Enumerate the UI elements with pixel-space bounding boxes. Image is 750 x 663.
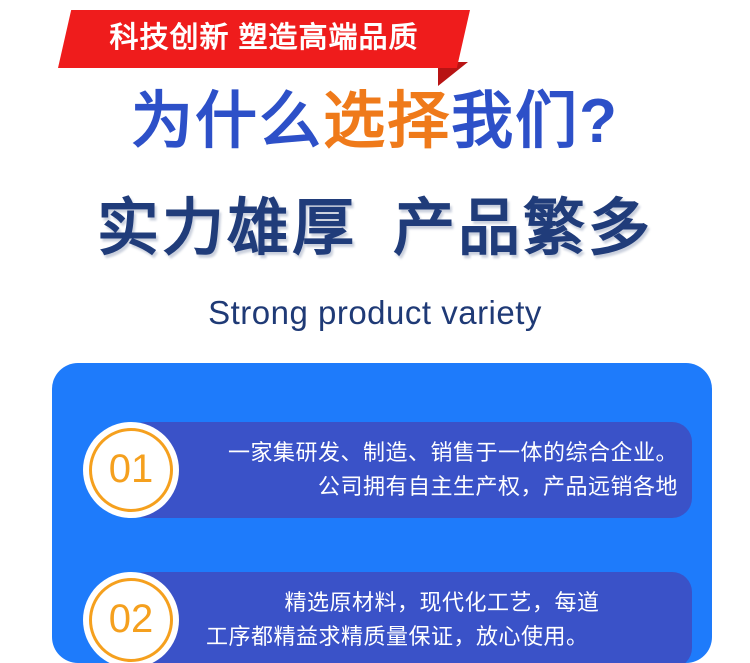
ribbon-banner: 科技创新 塑造高端品质 (0, 0, 750, 95)
headline-secondary-left: 实力雄厚 (97, 194, 357, 263)
headline-secondary-right: 产品繁多 (393, 194, 653, 263)
headline-secondary: 实力雄厚产品繁多 (0, 186, 750, 272)
feature-item-01-line1: 一家集研发、制造、销售于一体的综合企业。 (228, 436, 678, 470)
feature-item-01-number: 01 (109, 449, 154, 489)
feature-item-02-badge: 02 (83, 572, 179, 663)
feature-item-01-badge: 01 (83, 422, 179, 518)
feature-item-02-pill: 精选原材料，现代化工艺，每道 工序都精益求精质量保证，放心使用。 (126, 572, 692, 663)
feature-item-02-number: 02 (109, 599, 154, 639)
feature-item-02-line2: 工序都精益求精质量保证，放心使用。 (206, 620, 589, 654)
feature-item-02: 精选原材料，现代化工艺，每道 工序都精益求精质量保证，放心使用。 02 (52, 561, 712, 663)
feature-item-02-line1: 精选原材料，现代化工艺，每道 (284, 586, 599, 620)
headline-main-part1: 为什么 (131, 87, 323, 156)
subtitle-english: Strong product variety (0, 292, 750, 334)
feature-item-01: 一家集研发、制造、销售于一体的综合企业。 公司拥有自主生产权，产品远销各地 01 (52, 411, 712, 529)
promo-page: 科技创新 塑造高端品质 为什么选择我们? 实力雄厚产品繁多 Strong pro… (0, 0, 750, 654)
ribbon-text: 科技创新 塑造高端品质 (109, 24, 418, 53)
feature-card: 一家集研发、制造、销售于一体的综合企业。 公司拥有自主生产权，产品远销各地 01… (52, 363, 712, 663)
feature-item-01-pill: 一家集研发、制造、销售于一体的综合企业。 公司拥有自主生产权，产品远销各地 (126, 422, 692, 518)
badge-ring-icon: 02 (89, 578, 173, 662)
badge-ring-icon: 01 (89, 428, 173, 512)
ribbon-body: 科技创新 塑造高端品质 (58, 10, 470, 68)
headline-main-part2: 选择 (323, 87, 451, 156)
headline-main: 为什么选择我们? (0, 86, 750, 158)
headline-main-part3: 我们? (451, 87, 619, 156)
feature-item-01-line2: 公司拥有自主生产权，产品远销各地 (318, 470, 678, 504)
